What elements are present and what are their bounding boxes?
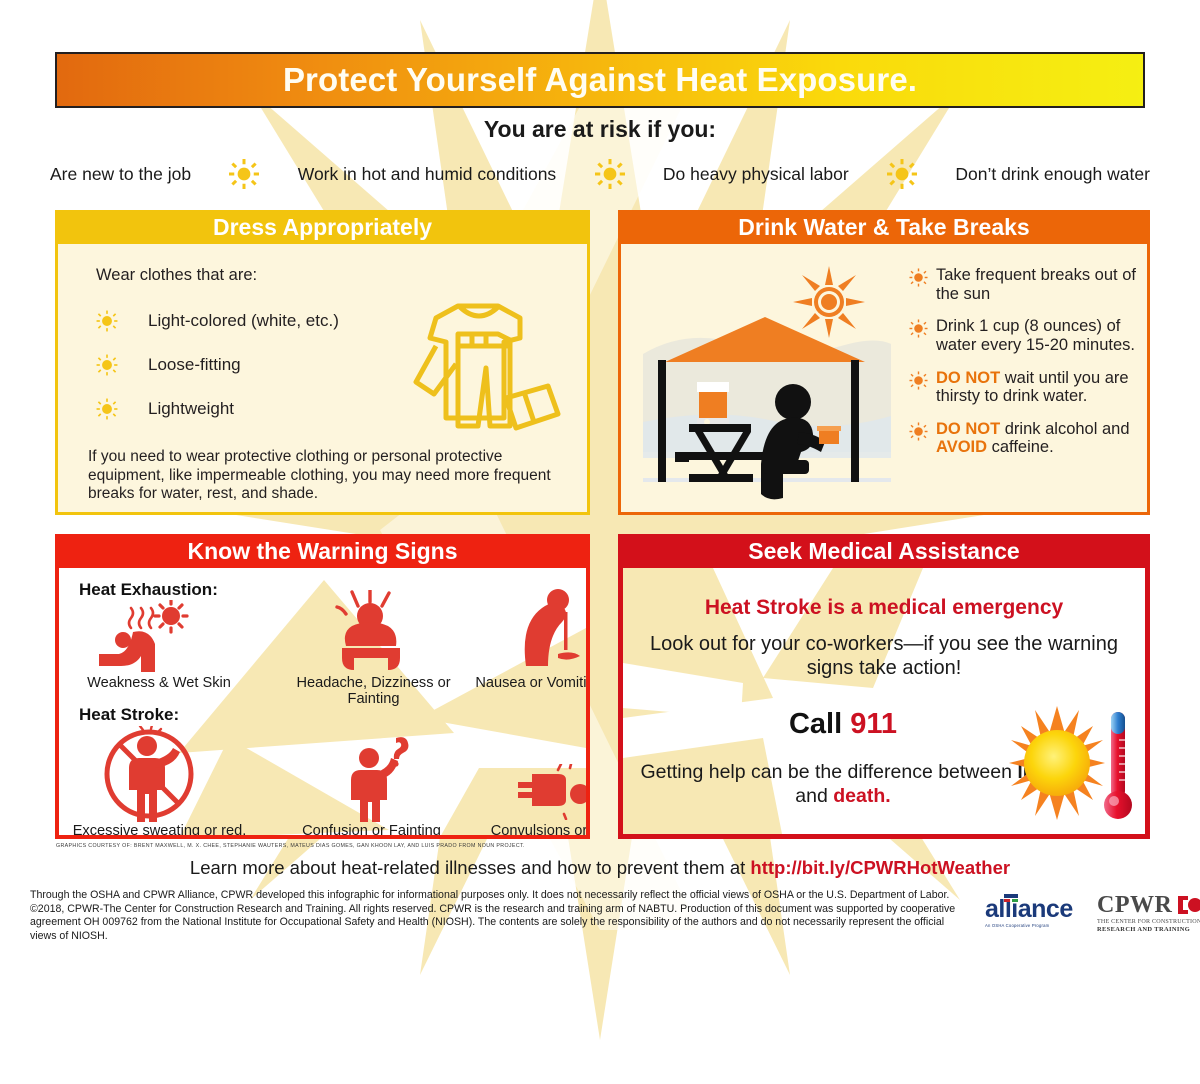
water-bullet-emphasis-2: AVOID (936, 438, 987, 456)
seek-closing-mid: and (795, 785, 833, 807)
dress-bullet-list: Light-colored (white, etc.) Loose-fittin… (96, 299, 396, 431)
risk-item-1: Are new to the job (50, 164, 191, 185)
legal-disclaimer: Through the OSHA and CPWR Alliance, CPWR… (30, 889, 970, 943)
excessive-sweating-icon (97, 726, 207, 822)
risk-item-3: Do heavy physical labor (663, 164, 849, 185)
list-item: DO NOT drink alcohol and AVOID caffeine. (909, 420, 1144, 457)
page-title: Protect Yourself Against Heat Exposure. (283, 61, 917, 99)
list-item: DO NOT wait until you are thirsty to dri… (909, 369, 1144, 406)
warning-subhead-stroke: Heat Stroke: (79, 705, 179, 725)
panel-warning-body: Heat Exhaustion: Heat Stroke: (55, 568, 590, 839)
panel-seek-body: Heat Stroke is a medical emergency Look … (618, 568, 1150, 839)
alliance-logo: alliance An OSHA Cooperative Program (985, 897, 1073, 928)
shade-break-illustration (633, 262, 901, 510)
page-title-bar: Protect Yourself Against Heat Exposure. (55, 52, 1145, 108)
list-item: Lightweight (96, 387, 396, 431)
panel-seek-medical-assistance: Seek Medical Assistance Heat Stroke is a… (618, 534, 1150, 839)
alliance-flag-icon (1004, 894, 1018, 906)
seek-closing-text: Getting help can be the difference betwe… (633, 760, 1053, 808)
seek-emergency-text: Heat Stroke is a medical emergency (623, 596, 1145, 620)
sun-thermometer-icon (1005, 704, 1137, 826)
risk-item-2: Work in hot and humid conditions (298, 164, 556, 185)
convulsions-seizures-icon (514, 764, 590, 820)
water-bullet-emphasis: DO NOT (936, 369, 1000, 387)
seek-call-label: Call (789, 708, 842, 740)
graphics-credit: GRAPHICS COURTESY OF: BRENT MAXWELL, M. … (56, 843, 576, 849)
list-item: Take frequent breaks out of the sun (909, 266, 1144, 303)
sun-icon (229, 159, 259, 189)
warning-label-weakness: Weakness & Wet Skin (84, 675, 234, 691)
warning-label-convulsions: Convulsions or Seizures (474, 823, 590, 839)
confusion-fainting-icon (339, 736, 419, 822)
sun-icon (887, 159, 917, 189)
headache-dizziness-icon (324, 590, 424, 672)
panel-water-heading: Drink Water & Take Breaks (618, 210, 1150, 244)
seek-closing-death: death. (833, 785, 890, 807)
water-bullet-emphasis: DO NOT (936, 420, 1000, 438)
water-bullet-label: drink alcohol and (1000, 420, 1129, 438)
water-bullet-label-2: caffeine. (987, 438, 1054, 456)
learn-more-link[interactable]: http://bit.ly/CPWRHotWeather (750, 857, 1010, 878)
seek-closing-pre: Getting help can be the difference betwe… (640, 761, 1017, 783)
list-item: Loose-fitting (96, 343, 396, 387)
risk-heading: You are at risk if you: (0, 116, 1200, 143)
logo-row: alliance An OSHA Cooperative Program CPW… (985, 893, 1185, 941)
sun-bullet-icon (96, 354, 118, 376)
sun-bullet-icon (909, 422, 928, 441)
panel-drink-water: Drink Water & Take Breaks (618, 210, 1150, 515)
seek-call-line: Call 911 (633, 708, 1053, 741)
clothing-icon (398, 294, 578, 444)
cpwr-mark-icon (1176, 895, 1200, 915)
panel-water-body: Take frequent breaks out of the sun Drin… (618, 244, 1150, 515)
panel-seek-heading: Seek Medical Assistance (618, 534, 1150, 568)
sun-bullet-icon (96, 310, 118, 332)
warning-label-headache: Headache, Dizziness or Fainting (291, 675, 456, 707)
dress-lead: Wear clothes that are: (96, 266, 257, 285)
cpwr-logo-line1: THE CENTER FOR CONSTRUCTION (1097, 919, 1200, 925)
learn-more-text: Learn more about heat-related illnesses … (190, 857, 750, 878)
cpwr-logo: CPWR THE CENTER FOR CONSTRUCTION RESEARC… (1097, 893, 1200, 933)
water-bullet-label: Drink 1 cup (8 ounces) of water every 15… (936, 317, 1144, 354)
water-bullet-label: Take frequent breaks out of the sun (936, 266, 1144, 303)
alliance-logo-text: alliance (985, 897, 1073, 922)
alliance-logo-tagline: An OSHA Cooperative Program (985, 923, 1073, 928)
cpwr-logo-text: CPWR (1097, 893, 1172, 917)
warning-label-nausea: Nausea or Vomiting (474, 675, 590, 691)
sun-icon (793, 266, 865, 338)
risk-row: Are new to the job Work in hot and humid… (50, 150, 1150, 198)
list-item: Drink 1 cup (8 ounces) of water every 15… (909, 317, 1144, 354)
risk-item-4: Don’t drink enough water (955, 164, 1150, 185)
warning-subhead-exhaustion: Heat Exhaustion: (79, 580, 218, 600)
weakness-wet-skin-icon (99, 600, 209, 672)
warning-label-sweating: Excessive sweating or red, hot, dry skin (67, 823, 252, 839)
sun-bullet-icon (909, 268, 928, 287)
dress-bullet-label: Loose-fitting (148, 355, 241, 375)
panel-dress-body: Wear clothes that are: Light-colored (wh… (55, 244, 590, 515)
sun-bullet-icon (909, 319, 928, 338)
nausea-vomiting-icon (514, 588, 590, 672)
panel-dress-appropriately: Dress Appropriately Wear clothes that ar… (55, 210, 590, 515)
sun-icon (595, 159, 625, 189)
learn-more-line: Learn more about heat-related illnesses … (0, 857, 1200, 879)
panel-dress-heading: Dress Appropriately (55, 210, 590, 244)
warning-label-confusion: Confusion or Fainting (299, 823, 444, 839)
sun-bullet-icon (96, 398, 118, 420)
water-bullet-list: Take frequent breaks out of the sun Drin… (909, 266, 1144, 471)
dress-bullet-label: Lightweight (148, 399, 234, 419)
seek-call-number: 911 (850, 708, 897, 740)
seek-lookout-text: Look out for your co-workers—if you see … (645, 632, 1123, 680)
infographic-canvas: Protect Yourself Against Heat Exposure. … (0, 0, 1200, 1084)
cpwr-logo-line2: RESEARCH AND TRAINING (1097, 926, 1200, 933)
dress-bullet-label: Light-colored (white, etc.) (148, 311, 339, 331)
sun-bullet-icon (909, 371, 928, 390)
list-item: Light-colored (white, etc.) (96, 299, 396, 343)
panel-warning-heading: Know the Warning Signs (55, 534, 590, 568)
dress-note: If you need to wear protective clothing … (88, 448, 560, 504)
panel-warning-signs: Know the Warning Signs Heat Exhaustion: … (55, 534, 590, 839)
